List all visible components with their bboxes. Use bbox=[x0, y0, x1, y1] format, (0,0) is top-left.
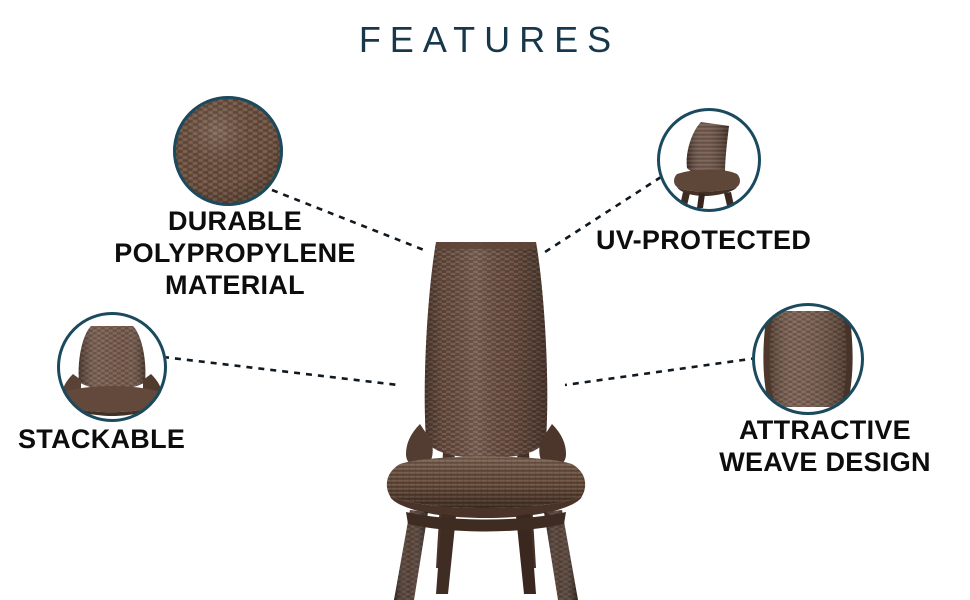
callout-uv-protected[interactable] bbox=[657, 108, 761, 212]
feature-label-attractive-weave-design: ATTRACTIVE WEAVE DESIGN bbox=[690, 415, 960, 479]
feature-label-stackable: STACKABLE bbox=[18, 424, 248, 456]
page-title: FEATURES bbox=[0, 22, 970, 58]
chair-stack-illustration bbox=[57, 312, 167, 422]
feature-label-durable: DURABLE POLYPROPYLENE MATERIAL bbox=[90, 206, 380, 302]
weave-texture-closeup-image bbox=[173, 96, 283, 206]
chair-side-illustration bbox=[657, 108, 761, 212]
chair-side-view-image bbox=[657, 108, 761, 212]
connector-stackable bbox=[163, 357, 398, 385]
callout-attractive-weave-design[interactable] bbox=[752, 303, 864, 415]
weave-closeup-illustration bbox=[173, 96, 283, 206]
callout-stackable[interactable] bbox=[57, 312, 167, 422]
chair-back-weave-panel-image bbox=[752, 303, 864, 415]
weave-panel-illustration bbox=[752, 303, 864, 415]
feature-label-uv-protected: UV-PROTECTED bbox=[596, 225, 846, 257]
callout-durable-polypropylene-material[interactable] bbox=[173, 96, 283, 206]
product-chair-image bbox=[370, 228, 602, 600]
chair-front-stacked-view-image bbox=[57, 312, 167, 422]
features-infographic: FEATURES bbox=[0, 0, 970, 600]
chair-illustration bbox=[370, 228, 602, 600]
